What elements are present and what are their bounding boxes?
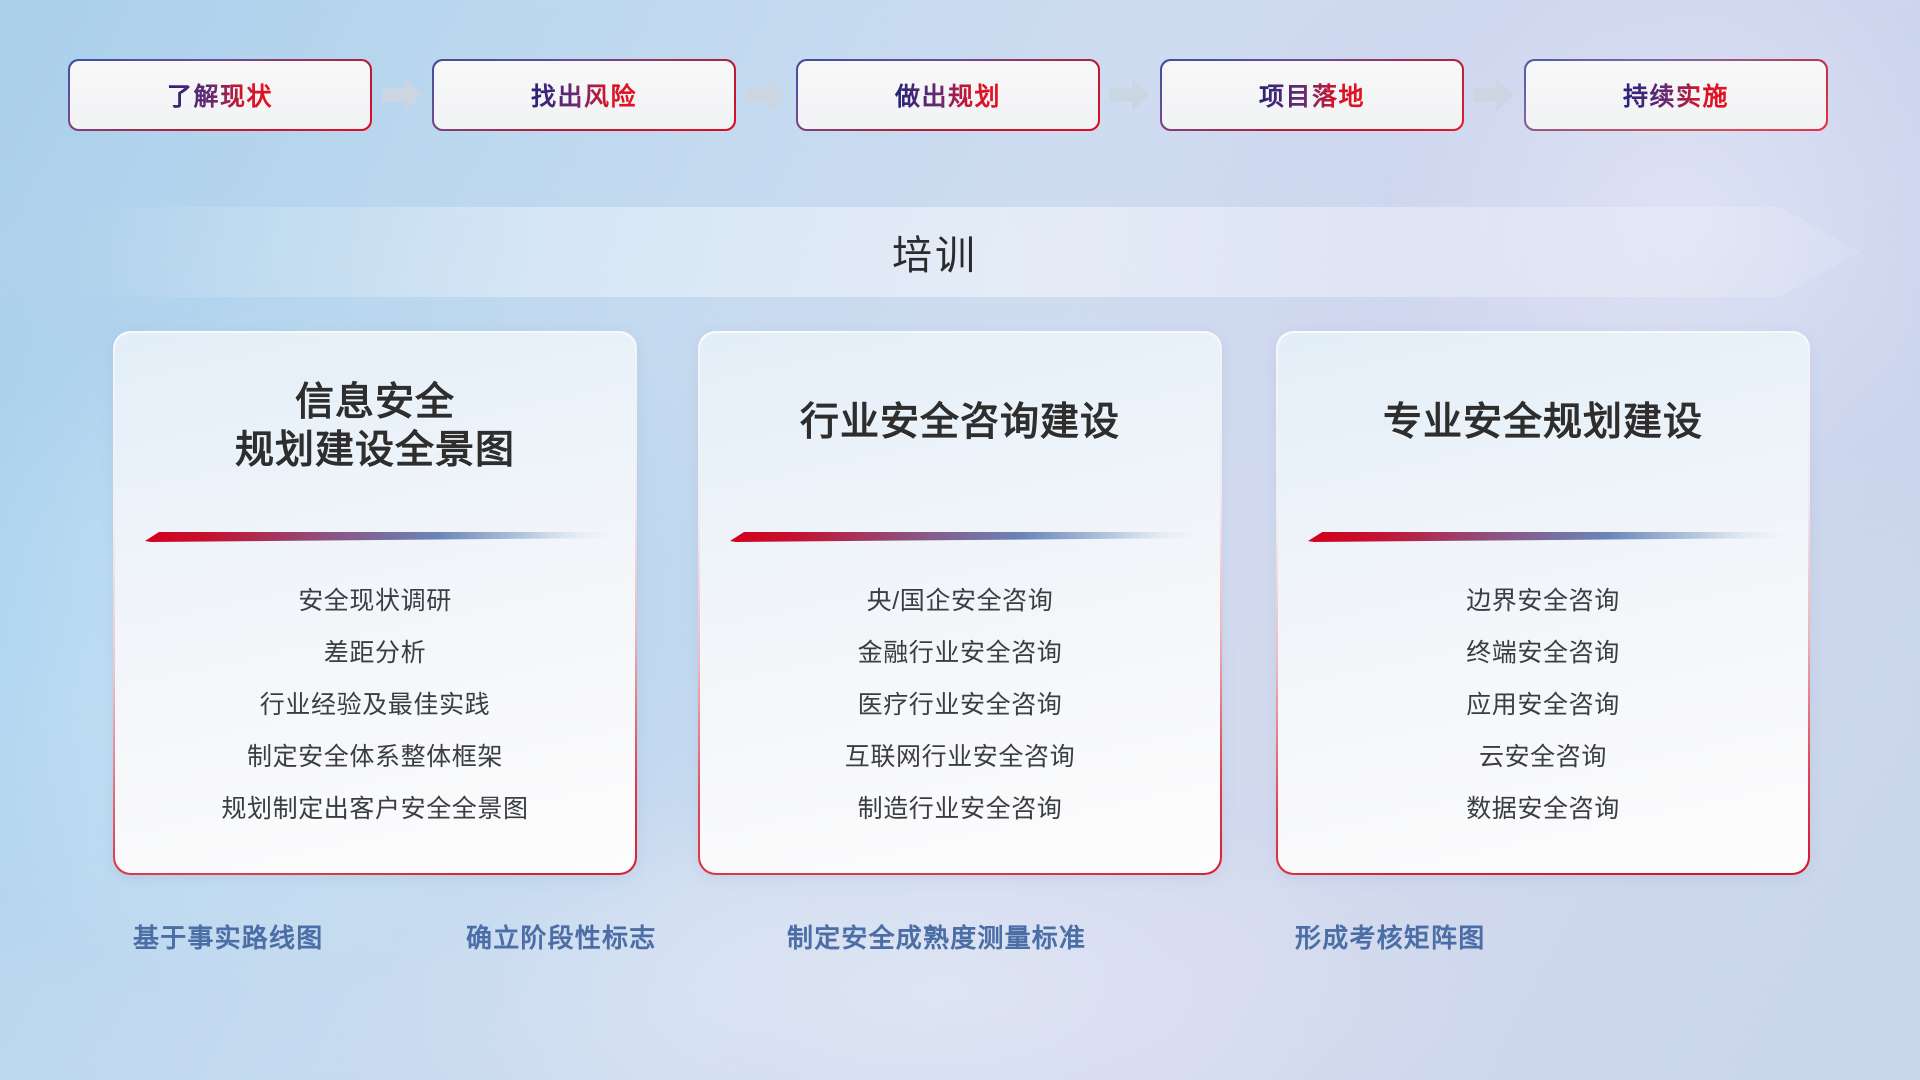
list-item: 边界安全咨询 <box>1278 575 1808 627</box>
step-box-1[interactable]: 找出风险 <box>434 61 734 129</box>
card-0[interactable]: 信息安全 规划建设全景图 安全现状调研 差距分析 行业经验及最佳实践 制定安全体… <box>115 333 635 873</box>
caption-row: 基于事实路线图 确立阶段性标志 制定安全成熟度测量标准 形成考核矩阵图 <box>0 918 1920 964</box>
list-item: 金融行业安全咨询 <box>700 627 1220 679</box>
card-1[interactable]: 行业安全咨询建设 央/国企安全咨询 金融行业安全咨询 医疗行业安全咨询 互联网行… <box>700 333 1220 873</box>
arrow-right-icon <box>1474 78 1514 112</box>
list-item: 数据安全咨询 <box>1278 783 1808 835</box>
card-2[interactable]: 专业安全规划建设 边界安全咨询 终端安全咨询 应用安全咨询 云安全咨询 数据安全… <box>1278 333 1808 873</box>
step-box-3[interactable]: 项目落地 <box>1162 61 1462 129</box>
caption-3: 形成考核矩阵图 <box>1295 918 1485 955</box>
arrow-right-icon <box>1110 78 1150 112</box>
card-divider-1 <box>730 529 1200 545</box>
step-connector-0 <box>370 61 434 129</box>
card-divider-2 <box>1308 529 1788 545</box>
card-list-2: 边界安全咨询 终端安全咨询 应用安全咨询 云安全咨询 数据安全咨询 <box>1278 575 1808 835</box>
step-label-2: 做出规划 <box>895 77 1001 113</box>
card-title-2: 专业安全规划建设 <box>1278 399 1808 447</box>
banner-title: 培训 <box>70 207 1860 297</box>
step-label-1: 找出风险 <box>531 77 637 113</box>
caption-2: 制定安全成熟度测量标准 <box>787 918 1086 955</box>
list-item: 行业经验及最佳实践 <box>115 679 635 731</box>
card-divider-0 <box>145 529 615 545</box>
caption-1: 确立阶段性标志 <box>466 918 656 955</box>
list-item: 医疗行业安全咨询 <box>700 679 1220 731</box>
caption-0: 基于事实路线图 <box>133 918 323 955</box>
card-group: 信息安全 规划建设全景图 安全现状调研 差距分析 行业经验及最佳实践 制定安全体… <box>0 333 1920 873</box>
list-item: 制定安全体系整体框架 <box>115 731 635 783</box>
training-banner: 培训 <box>70 207 1860 297</box>
card-list-1: 央/国企安全咨询 金融行业安全咨询 医疗行业安全咨询 互联网行业安全咨询 制造行… <box>700 575 1220 835</box>
list-item: 制造行业安全咨询 <box>700 783 1220 835</box>
list-item: 安全现状调研 <box>115 575 635 627</box>
list-item: 央/国企安全咨询 <box>700 575 1220 627</box>
list-item: 应用安全咨询 <box>1278 679 1808 731</box>
process-step-bar: 了解现状 找出风险 做出规划 项目落地 持续实施 <box>70 61 1850 129</box>
step-label-3: 项目落地 <box>1259 77 1365 113</box>
list-item: 终端安全咨询 <box>1278 627 1808 679</box>
step-box-2[interactable]: 做出规划 <box>798 61 1098 129</box>
step-connector-2 <box>1098 61 1162 129</box>
card-title-0: 信息安全 规划建设全景图 <box>115 379 635 474</box>
card-title-1: 行业安全咨询建设 <box>700 399 1220 447</box>
step-box-0[interactable]: 了解现状 <box>70 61 370 129</box>
list-item: 云安全咨询 <box>1278 731 1808 783</box>
step-label-4: 持续实施 <box>1623 77 1729 113</box>
arrow-right-icon <box>746 78 786 112</box>
step-connector-1 <box>734 61 798 129</box>
step-box-4[interactable]: 持续实施 <box>1526 61 1826 129</box>
list-item: 互联网行业安全咨询 <box>700 731 1220 783</box>
arrow-right-icon <box>382 78 422 112</box>
card-list-0: 安全现状调研 差距分析 行业经验及最佳实践 制定安全体系整体框架 规划制定出客户… <box>115 575 635 835</box>
list-item: 规划制定出客户安全全景图 <box>115 783 635 835</box>
step-connector-3 <box>1462 61 1526 129</box>
step-label-0: 了解现状 <box>167 77 273 113</box>
list-item: 差距分析 <box>115 627 635 679</box>
